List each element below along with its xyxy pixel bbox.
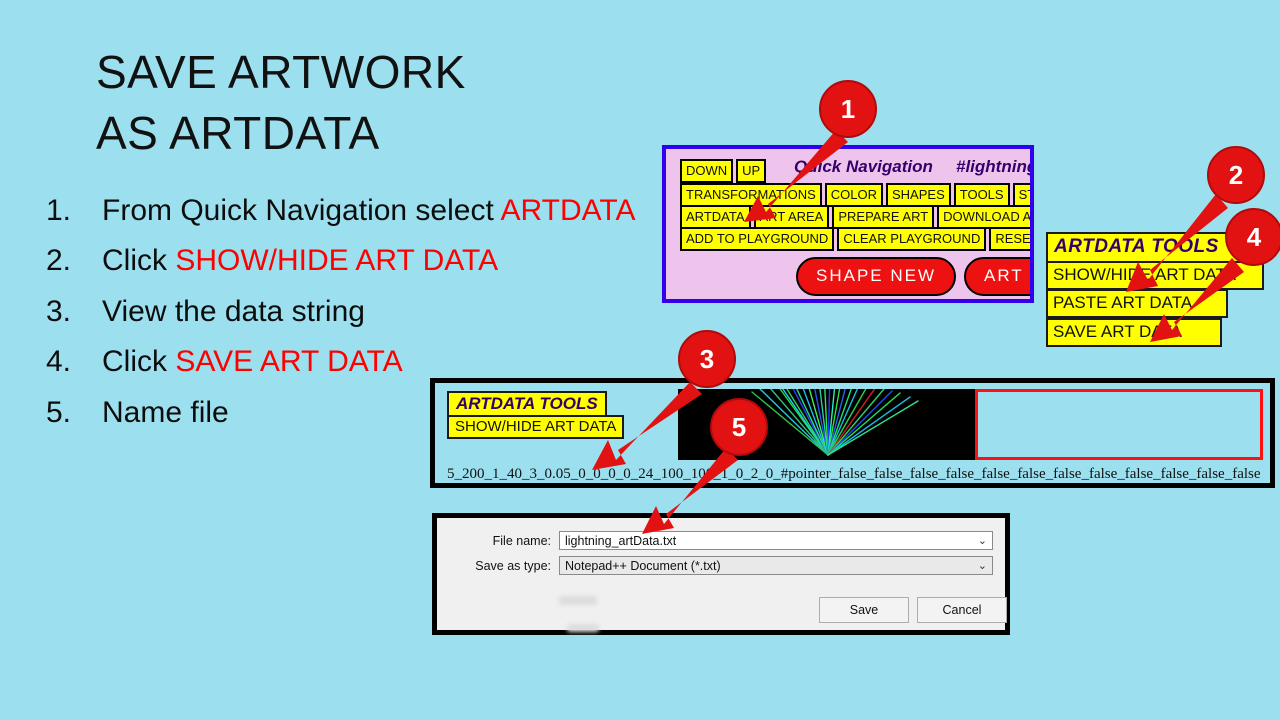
qn-button-up[interactable]: UP	[736, 159, 766, 183]
save-as-type-select[interactable]: Notepad++ Document (*.txt) ⌄	[559, 556, 993, 575]
step-text-plain: From Quick Navigation select	[102, 194, 500, 227]
artdata-empty-output-area	[975, 389, 1263, 460]
quick-navigation-title: Quick Navigation	[794, 157, 933, 177]
qn-button-add-to-playground[interactable]: ADD TO PLAYGROUND	[680, 227, 834, 251]
button-show-hide-art-data[interactable]: SHOW/HIDE ART DATA	[1046, 261, 1264, 290]
chevron-down-icon[interactable]: ⌄	[978, 557, 987, 574]
blurred-placeholder-1	[559, 596, 597, 605]
callout-badge-1: 1	[819, 80, 877, 138]
step-text-highlight: SHOW/HIDE ART DATA	[175, 244, 498, 277]
quicknav-row-4: ADD TO PLAYGROUND CLEAR PLAYGROUND RESET	[680, 227, 1034, 251]
blurred-placeholder-2	[567, 624, 599, 632]
save-button[interactable]: Save	[819, 597, 909, 623]
callout-badge-2: 2	[1207, 146, 1265, 204]
list-item: 2. Click SHOW/HIDE ART DATA	[46, 242, 646, 280]
cancel-button[interactable]: Cancel	[917, 597, 1007, 623]
quicknav-row-2: TRANSFORMATIONS COLOR SHAPES TOOLS STAGE…	[680, 183, 1034, 207]
qn-button-reset[interactable]: RESET	[989, 227, 1034, 251]
step-text: Click SHOW/HIDE ART DATA	[102, 242, 646, 280]
step-number: 2.	[46, 242, 102, 280]
step-number: 1.	[46, 192, 102, 230]
qn-button-tools[interactable]: TOOLS	[954, 183, 1010, 207]
file-name-value: lightning_artData.txt	[560, 534, 676, 548]
viewer-artdata-tools-header: ARTDATA TOOLS	[447, 391, 607, 418]
qn-button-shapes[interactable]: SHAPES	[886, 183, 951, 207]
viewer-button-show-hide-art-data[interactable]: SHOW/HIDE ART DATA	[447, 415, 624, 439]
qn-button-artdata[interactable]: ARTDATA	[680, 205, 751, 229]
quick-navigation-panel: Quick Navigation #lightning DOWN UP TRAN…	[662, 145, 1034, 303]
qn-button-art-area[interactable]: ART AREA	[754, 205, 830, 229]
qn-button-color[interactable]: COLOR	[825, 183, 883, 207]
button-paste-art-data[interactable]: PASTE ART DATA	[1046, 289, 1228, 318]
callout-badge-4: 4	[1225, 208, 1280, 266]
list-item: 4. Click SAVE ART DATA	[46, 343, 646, 381]
callout-badge-5: 5	[710, 398, 768, 456]
quicknav-row-1: DOWN UP	[680, 159, 766, 183]
step-text: Click SAVE ART DATA	[102, 343, 646, 381]
callout-badge-3: 3	[678, 330, 736, 388]
qn-button-prepare-art[interactable]: PREPARE ART	[832, 205, 934, 229]
qn-button-art-new[interactable]: ART NEW	[964, 257, 1034, 296]
artdata-viewer-panel: ARTDATA TOOLS SHOW/HIDE ART DATA	[430, 378, 1275, 488]
chevron-down-icon[interactable]: ⌄	[978, 532, 987, 549]
step-text-highlight: SAVE ART DATA	[175, 345, 402, 378]
list-item: 1. From Quick Navigation select ARTDATA	[46, 192, 646, 230]
qn-button-clear-playground[interactable]: CLEAR PLAYGROUND	[837, 227, 986, 251]
step-text-highlight: ARTDATA	[500, 194, 635, 227]
save-as-type-value: Notepad++ Document (*.txt)	[560, 559, 721, 573]
qn-button-down[interactable]: DOWN	[680, 159, 733, 183]
step-number: 4.	[46, 343, 102, 381]
qn-button-stage[interactable]: STAGE	[1013, 183, 1034, 207]
step-number: 5.	[46, 394, 102, 432]
list-item: 3. View the data string	[46, 293, 646, 331]
step-text-plain: Click	[102, 345, 175, 378]
qn-button-download-art[interactable]: DOWNLOAD ART	[937, 205, 1034, 229]
button-save-art-data[interactable]: SAVE ART DATA	[1046, 318, 1222, 347]
save-file-dialog: File name: lightning_artData.txt ⌄ Save …	[432, 513, 1010, 635]
file-name-row: File name: lightning_artData.txt ⌄	[451, 531, 993, 550]
qn-button-shape-new[interactable]: SHAPE NEW	[796, 257, 956, 296]
page-title: SAVE ARTWORK AS ARTDATA	[96, 42, 656, 163]
step-number: 3.	[46, 293, 102, 331]
qn-button-transformations[interactable]: TRANSFORMATIONS	[680, 183, 822, 207]
step-text: From Quick Navigation select ARTDATA	[102, 192, 646, 230]
save-as-type-label: Save as type:	[451, 559, 559, 573]
quicknav-row-3: ARTDATA ART AREA PREPARE ART DOWNLOAD AR…	[680, 205, 1034, 229]
file-name-input[interactable]: lightning_artData.txt ⌄	[559, 531, 993, 550]
step-text: View the data string	[102, 293, 646, 331]
step-text-plain: Click	[102, 244, 175, 277]
step-text-plain: View the data string	[102, 295, 365, 328]
save-as-type-row: Save as type: Notepad++ Document (*.txt)…	[451, 556, 993, 575]
step-text-plain: Name file	[102, 396, 229, 429]
file-name-label: File name:	[451, 534, 559, 548]
artdata-string: 5_200_1_40_3_0.05_0_0_0_0_24_100_100_1_0…	[447, 466, 1266, 483]
slide-canvas: SAVE ARTWORK AS ARTDATA 1. From Quick Na…	[0, 0, 1280, 720]
quick-navigation-tag: #lightning	[956, 157, 1034, 177]
